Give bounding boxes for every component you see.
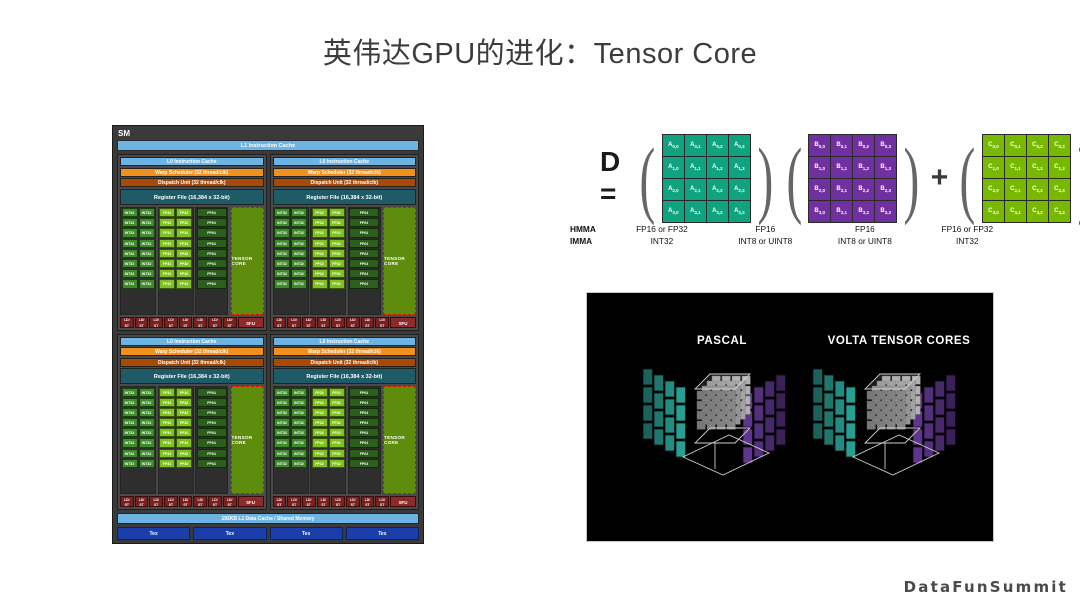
fp32-core-row: FP32FP32 [159, 208, 192, 217]
fp32-core-row: FP32FP32 [159, 279, 192, 288]
int32-core-cell: INT32 [291, 428, 307, 437]
fp64-core-cell: FP64 [197, 449, 227, 458]
fp64-core-cell: FP64 [197, 239, 227, 248]
ldst-unit-cell: LD/ST [135, 496, 149, 507]
fp64-core-cell: FP64 [349, 218, 379, 227]
int32-core-cell: INT32 [122, 438, 138, 447]
int32-core-cell: INT32 [274, 408, 290, 417]
fp32-core-row: FP32FP32 [159, 438, 192, 447]
int32-core-row: INT32INT32 [122, 269, 155, 278]
sm-quadrant-grid: L0 Instruction CacheWarp Scheduler (32 t… [117, 154, 419, 510]
int32-core-cell: INT32 [274, 269, 290, 278]
fp32-core-cell: FP32 [159, 408, 175, 417]
int32-core-cell: INT32 [139, 408, 155, 417]
matrix-cell-c-2-3: C2,3 [1049, 179, 1070, 200]
int32-core-cell: INT32 [122, 388, 138, 397]
int32-core-cell: INT32 [122, 208, 138, 217]
fp32-core-cell: FP32 [312, 259, 328, 268]
int32-core-cell: INT32 [274, 398, 290, 407]
int32-core-cell: INT32 [122, 459, 138, 468]
core-array: INT32INT32INT32INT32INT32INT32INT32INT32… [120, 386, 264, 494]
matrix-cell-b-1-1: B1,1 [831, 157, 852, 178]
int32-core-cell: INT32 [139, 208, 155, 217]
matrix-cell-c-0-2: C0,2 [1027, 135, 1048, 156]
matrix-cell-c-1-0: C1,0 [983, 157, 1004, 178]
int32-core-cell: INT32 [291, 398, 307, 407]
format-row-hmma: HMMA FP16 or FP32 FP16 FP16 FP16 or FP32 [570, 224, 1020, 236]
format-hmma-b: FP16 [815, 224, 915, 234]
l1-instruction-cache-bar: L1 Instruction Cache [117, 140, 419, 151]
matrix-cell-b-2-0: B2,0 [809, 179, 830, 200]
int32-core-row: INT32INT32 [274, 459, 307, 468]
ldst-unit-cell: LD/ST [317, 496, 331, 507]
fp32-core-cell: FP32 [329, 218, 345, 227]
int32-core-row: INT32INT32 [274, 228, 307, 237]
pascal-volta-comparison-image: PASCAL VOLTA TENSOR CORES [586, 292, 994, 542]
fp32-core-row: FP32FP32 [312, 239, 345, 248]
tensor-core-label: TENSOR CORE [384, 435, 415, 445]
int32-core-row: INT32INT32 [122, 428, 155, 437]
fp64-core-group: FP64FP64FP64FP64FP64FP64FP64FP64 [195, 386, 228, 494]
matrix-cell-b-0-2: B0,2 [853, 135, 874, 156]
fp32-core-cell: FP32 [329, 398, 345, 407]
fp32-core-row: FP32FP32 [159, 449, 192, 458]
fp32-core-group: FP32FP32FP32FP32FP32FP32FP32FP32FP32FP32… [158, 207, 194, 315]
int32-core-row: INT32INT32 [122, 228, 155, 237]
matrix-cell-a-2-1: A2,1 [685, 179, 706, 200]
matrix-cell-a-3-0: A3,0 [663, 201, 684, 222]
sm-label: SM [116, 129, 420, 139]
fp64-core-cell: FP64 [349, 279, 379, 288]
format-row-imma: IMMA INT32 INT8 or UINT8 INT8 or UINT8 I… [570, 236, 1020, 248]
fp32-core-row: FP32FP32 [312, 269, 345, 278]
fp32-core-row: FP32FP32 [312, 459, 345, 468]
tensor-core-block: TENSOR CORE [383, 207, 416, 315]
matrix-cell-a-3-2: A3,2 [707, 201, 728, 222]
matrix-cell-c-0-0: C0,0 [983, 135, 1004, 156]
matrix-a-group: ( A0,0A0,1A0,2A0,3A1,0A1,1A1,2A1,3A2,0A2… [633, 134, 779, 223]
matrix-cell-c-2-1: C2,1 [1005, 179, 1026, 200]
int32-core-cell: INT32 [139, 218, 155, 227]
int32-core-row: INT32INT32 [122, 218, 155, 227]
matrix-cell-b-0-3: B0,3 [875, 135, 896, 156]
fp64-core-cell: FP64 [349, 408, 379, 417]
int32-core-cell: INT32 [122, 218, 138, 227]
sm-processing-block: L0 Instruction CacheWarp Scheduler (32 t… [117, 154, 267, 331]
matrix-c-group: ( C0,0C0,1C0,2C0,3C1,0C1,1C1,2C1,3C2,0C2… [953, 134, 1080, 223]
ldst-unit-cell: LD/ST [120, 317, 134, 328]
tensor-core-label: TENSOR CORE [232, 256, 263, 266]
tensor-core-block: TENSOR CORE [383, 386, 416, 494]
fp32-core-cell: FP32 [176, 259, 192, 268]
fp32-core-cell: FP32 [176, 408, 192, 417]
l0-instruction-cache-bar: L0 Instruction Cache [120, 157, 264, 166]
int32-core-cell: INT32 [274, 418, 290, 427]
ldst-sfu-row: LD/STLD/STLD/STLD/STLD/STLD/STLD/STLD/ST… [273, 496, 417, 507]
tex-unit-cell: Tex [193, 527, 266, 540]
int32-core-cell: INT32 [139, 279, 155, 288]
int32-core-cell: INT32 [122, 418, 138, 427]
fp32-core-cell: FP32 [329, 259, 345, 268]
fp32-core-cell: FP32 [329, 269, 345, 278]
fp32-core-cell: FP32 [329, 418, 345, 427]
fp32-core-cell: FP32 [329, 388, 345, 397]
int32-core-cell: INT32 [291, 418, 307, 427]
int32-core-cell: INT32 [291, 279, 307, 288]
fp64-core-cell: FP64 [349, 228, 379, 237]
int32-core-row: INT32INT32 [274, 208, 307, 217]
fp64-core-cell: FP64 [349, 269, 379, 278]
format-tag-imma: IMMA [570, 236, 608, 246]
int32-core-cell: INT32 [122, 259, 138, 268]
ldst-unit-cell: LD/ST [179, 496, 193, 507]
fp32-core-cell: FP32 [312, 418, 328, 427]
int32-core-cell: INT32 [122, 249, 138, 258]
int32-core-row: INT32INT32 [274, 279, 307, 288]
matrix-cell-a-2-0: A2,0 [663, 179, 684, 200]
ldst-unit-cell: LD/ST [179, 317, 193, 328]
int32-core-cell: INT32 [139, 459, 155, 468]
fp64-core-cell: FP64 [197, 269, 227, 278]
fp32-core-row: FP32FP32 [159, 239, 192, 248]
fp32-core-cell: FP32 [159, 398, 175, 407]
fp32-core-cell: FP32 [312, 279, 328, 288]
fp32-core-row: FP32FP32 [312, 388, 345, 397]
matrix-cell-a-1-0: A1,0 [663, 157, 684, 178]
sm-memory-section: 192KB L1 Data Cache / Shared Memory TexT… [117, 513, 419, 540]
tensor-core-label: TENSOR CORE [232, 435, 263, 445]
matrix-cell-c-2-0: C2,0 [983, 179, 1004, 200]
fp64-core-cell: FP64 [197, 459, 227, 468]
fp32-core-cell: FP32 [312, 398, 328, 407]
fp32-core-row: FP32FP32 [159, 388, 192, 397]
int32-core-cell: INT32 [139, 428, 155, 437]
int32-core-cell: INT32 [122, 239, 138, 248]
format-imma-b: INT8 or UINT8 [815, 236, 915, 246]
int32-core-cell: INT32 [139, 449, 155, 458]
int32-core-cell: INT32 [139, 249, 155, 258]
matrix-cell-a-0-2: A0,2 [707, 135, 728, 156]
ldst-unit-cell: LD/ST [375, 317, 389, 328]
int32-core-cell: INT32 [291, 218, 307, 227]
dispatch-unit-bar: Dispatch Unit (32 thread/clk) [120, 358, 264, 367]
fp32-core-cell: FP32 [329, 428, 345, 437]
int32-core-row: INT32INT32 [274, 259, 307, 268]
ldst-unit-cell: LD/ST [331, 317, 345, 328]
sfu-unit-cell: SFU [390, 496, 416, 507]
fp32-core-row: FP32FP32 [312, 259, 345, 268]
core-array: INT32INT32INT32INT32INT32INT32INT32INT32… [273, 386, 417, 494]
int32-core-cell: INT32 [291, 449, 307, 458]
fp64-core-group: FP64FP64FP64FP64FP64FP64FP64FP64 [348, 207, 381, 315]
int32-core-cell: INT32 [274, 279, 290, 288]
int32-core-row: INT32INT32 [122, 398, 155, 407]
matrix-cell-a-2-3: A2,3 [729, 179, 750, 200]
matrix-cell-c-0-3: C0,3 [1049, 135, 1070, 156]
int32-core-cell: INT32 [139, 228, 155, 237]
int32-core-row: INT32INT32 [122, 279, 155, 288]
fp32-core-row: FP32FP32 [312, 438, 345, 447]
l1-data-cache-bar: 192KB L1 Data Cache / Shared Memory [117, 513, 419, 524]
fp32-core-cell: FP32 [176, 208, 192, 217]
fp32-core-row: FP32FP32 [312, 418, 345, 427]
fp32-core-cell: FP32 [159, 218, 175, 227]
fp32-core-row: FP32FP32 [312, 218, 345, 227]
matrix-cell-b-0-1: B0,1 [831, 135, 852, 156]
fp32-core-cell: FP32 [159, 449, 175, 458]
matrix-cell-b-0-0: B0,0 [809, 135, 830, 156]
int32-core-cell: INT32 [274, 259, 290, 268]
int32-core-row: INT32INT32 [274, 408, 307, 417]
int32-core-cell: INT32 [291, 459, 307, 468]
fp64-core-cell: FP64 [197, 408, 227, 417]
ldst-unit-cell: LD/ST [149, 496, 163, 507]
fp32-core-cell: FP32 [329, 449, 345, 458]
ldst-unit-cell: LD/ST [164, 317, 178, 328]
int32-core-row: INT32INT32 [274, 249, 307, 258]
fp32-core-row: FP32FP32 [312, 228, 345, 237]
matrix-cell-c-0-1: C0,1 [1005, 135, 1026, 156]
fp32-core-cell: FP32 [176, 418, 192, 427]
int32-core-cell: INT32 [274, 388, 290, 397]
fp32-core-cell: FP32 [159, 438, 175, 447]
tex-unit-row: TexTexTexTex [117, 527, 419, 540]
fp32-core-row: FP32FP32 [159, 228, 192, 237]
fp32-core-cell: FP32 [312, 208, 328, 217]
ldst-unit-cell: LD/ST [361, 317, 375, 328]
dispatch-unit-bar: Dispatch Unit (32 thread/clk) [120, 178, 264, 187]
register-file-bar: Register File (16,384 x 32-bit) [120, 368, 264, 384]
fp32-core-cell: FP32 [312, 249, 328, 258]
matrix-cell-a-1-1: A1,1 [685, 157, 706, 178]
int32-core-cell: INT32 [122, 449, 138, 458]
tensor-core-block: TENSOR CORE [231, 207, 264, 315]
fp32-core-cell: FP32 [329, 279, 345, 288]
dispatch-unit-bar: Dispatch Unit (32 thread/clk) [273, 178, 417, 187]
fp64-core-cell: FP64 [349, 208, 379, 217]
ldst-sfu-row: LD/STLD/STLD/STLD/STLD/STLD/STLD/STLD/ST… [120, 496, 264, 507]
volta-cube-figure [805, 351, 985, 481]
int32-core-cell: INT32 [122, 398, 138, 407]
register-file-bar: Register File (16,384 x 32-bit) [273, 189, 417, 205]
matrix-cell-b-1-0: B1,0 [809, 157, 830, 178]
int32-core-row: INT32INT32 [274, 418, 307, 427]
int32-core-group: INT32INT32INT32INT32INT32INT32INT32INT32… [273, 207, 309, 315]
l0-instruction-cache-bar: L0 Instruction Cache [120, 337, 264, 346]
fp32-core-group: FP32FP32FP32FP32FP32FP32FP32FP32FP32FP32… [310, 207, 346, 315]
int32-core-cell: INT32 [139, 418, 155, 427]
int32-core-row: INT32INT32 [274, 398, 307, 407]
fp32-core-cell: FP32 [159, 388, 175, 397]
ldst-unit-cell: LD/ST [361, 496, 375, 507]
matrix-cell-c-1-1: C1,1 [1005, 157, 1026, 178]
fp32-core-cell: FP32 [312, 428, 328, 437]
int32-core-row: INT32INT32 [122, 249, 155, 258]
page-title: 英伟达GPU的进化：Tensor Core [0, 30, 1080, 72]
pascal-title: PASCAL [632, 335, 812, 347]
tex-unit-cell: Tex [346, 527, 419, 540]
int32-core-cell: INT32 [122, 228, 138, 237]
matrix-cell-c-2-2: C2,2 [1027, 179, 1048, 200]
fp32-core-cell: FP32 [312, 408, 328, 417]
ldst-unit-cell: LD/ST [375, 496, 389, 507]
l0-instruction-cache-bar: L0 Instruction Cache [273, 157, 417, 166]
ldst-unit-cell: LD/ST [302, 317, 316, 328]
fp32-core-cell: FP32 [159, 428, 175, 437]
fp64-core-group: FP64FP64FP64FP64FP64FP64FP64FP64 [348, 386, 381, 494]
int32-core-row: INT32INT32 [122, 438, 155, 447]
int32-core-row: INT32INT32 [122, 208, 155, 217]
equation-result-label: D = [600, 146, 621, 210]
fp32-core-cell: FP32 [176, 279, 192, 288]
fp32-core-cell: FP32 [159, 208, 175, 217]
fp64-core-cell: FP64 [197, 249, 227, 258]
int32-core-row: INT32INT32 [122, 459, 155, 468]
fp32-core-row: FP32FP32 [159, 418, 192, 427]
int32-core-row: INT32INT32 [274, 388, 307, 397]
format-tag-hmma: HMMA [570, 224, 608, 234]
tex-unit-cell: Tex [117, 527, 190, 540]
matrix-c: C0,0C0,1C0,2C0,3C1,0C1,1C1,2C1,3C2,0C2,1… [982, 134, 1071, 223]
matrix-cell-b-3-1: B3,1 [831, 201, 852, 222]
int32-core-row: INT32INT32 [122, 259, 155, 268]
int32-core-cell: INT32 [122, 269, 138, 278]
fp32-core-cell: FP32 [159, 249, 175, 258]
sm-processing-block: L0 Instruction CacheWarp Scheduler (32 t… [270, 154, 420, 331]
int32-core-cell: INT32 [122, 408, 138, 417]
fp32-core-cell: FP32 [329, 239, 345, 248]
matrix-cell-b-3-2: B3,2 [853, 201, 874, 222]
fp64-core-cell: FP64 [349, 398, 379, 407]
tensor-core-label: TENSOR CORE [384, 256, 415, 266]
int32-core-cell: INT32 [139, 398, 155, 407]
fp32-core-row: FP32FP32 [159, 398, 192, 407]
matrix-cell-b-2-2: B2,2 [853, 179, 874, 200]
matrix-a: A0,0A0,1A0,2A0,3A1,0A1,1A1,2A1,3A2,0A2,1… [662, 134, 751, 223]
fp32-core-cell: FP32 [312, 459, 328, 468]
int32-core-row: INT32INT32 [122, 449, 155, 458]
format-imma-a: INT8 or UINT8 [716, 236, 816, 246]
sfu-unit-cell: SFU [238, 496, 264, 507]
pascal-cube-figure [635, 351, 815, 481]
fp32-core-cell: FP32 [329, 249, 345, 258]
int32-core-cell: INT32 [139, 259, 155, 268]
int32-core-cell: INT32 [274, 459, 290, 468]
ldst-unit-cell: LD/ST [135, 317, 149, 328]
matrix-cell-b-1-3: B1,3 [875, 157, 896, 178]
fp32-core-cell: FP32 [159, 269, 175, 278]
fp32-core-row: FP32FP32 [312, 449, 345, 458]
matrix-cell-c-3-1: C3,1 [1005, 201, 1026, 222]
fp32-core-cell: FP32 [312, 388, 328, 397]
int32-core-cell: INT32 [274, 249, 290, 258]
matrix-b-group: ( B0,0B0,1B0,2B0,3B1,0B1,1B1,2B1,3B2,0B2… [780, 134, 926, 223]
matrix-cell-c-3-2: C3,2 [1027, 201, 1048, 222]
tensor-core-block: TENSOR CORE [231, 386, 264, 494]
fp32-core-cell: FP32 [159, 459, 175, 468]
register-file-bar: Register File (16,384 x 32-bit) [273, 368, 417, 384]
ldst-unit-cell: LD/ST [208, 317, 222, 328]
matrix-cell-a-3-1: A3,1 [685, 201, 706, 222]
volta-title: VOLTA TENSOR CORES [799, 335, 994, 347]
int32-core-cell: INT32 [291, 249, 307, 258]
fp32-core-cell: FP32 [176, 449, 192, 458]
format-imma-d: INT32 [608, 236, 715, 246]
int32-core-cell: INT32 [291, 259, 307, 268]
fp32-core-cell: FP32 [159, 418, 175, 427]
fp32-core-row: FP32FP32 [159, 428, 192, 437]
fp32-core-row: FP32FP32 [312, 249, 345, 258]
fp64-core-cell: FP64 [349, 418, 379, 427]
int32-core-cell: INT32 [274, 438, 290, 447]
int32-core-group: INT32INT32INT32INT32INT32INT32INT32INT32… [273, 386, 309, 494]
core-array: INT32INT32INT32INT32INT32INT32INT32INT32… [120, 207, 264, 315]
int32-core-cell: INT32 [139, 239, 155, 248]
matrix-cell-c-3-3: C3,3 [1049, 201, 1070, 222]
ldst-unit-cell: LD/ST [273, 496, 287, 507]
ldst-unit-cell: LD/ST [120, 496, 134, 507]
matrix-cell-a-1-2: A1,2 [707, 157, 728, 178]
ldst-unit-cell: LD/ST [331, 496, 345, 507]
ldst-unit-cell: LD/ST [193, 317, 207, 328]
matrix-cell-c-1-3: C1,3 [1049, 157, 1070, 178]
fp64-core-cell: FP64 [349, 459, 379, 468]
int32-core-cell: INT32 [291, 208, 307, 217]
plus-icon: + [931, 161, 949, 195]
format-imma-c: INT32 [915, 236, 1020, 246]
int32-core-cell: INT32 [274, 218, 290, 227]
fp32-core-cell: FP32 [329, 438, 345, 447]
fp64-core-cell: FP64 [349, 388, 379, 397]
ldst-sfu-row: LD/STLD/STLD/STLD/STLD/STLD/STLD/STLD/ST… [120, 317, 264, 328]
matrix-cell-b-3-0: B3,0 [809, 201, 830, 222]
matrix-cell-a-0-0: A0,0 [663, 135, 684, 156]
core-array: INT32INT32INT32INT32INT32INT32INT32INT32… [273, 207, 417, 315]
int32-core-cell: INT32 [291, 269, 307, 278]
footer-logo: DataFunSummit [904, 578, 1068, 596]
ldst-unit-cell: LD/ST [223, 496, 237, 507]
fp32-core-cell: FP32 [159, 228, 175, 237]
fp32-core-cell: FP32 [176, 269, 192, 278]
fp32-core-cell: FP32 [312, 438, 328, 447]
int32-core-row: INT32INT32 [274, 428, 307, 437]
fp64-core-group: FP64FP64FP64FP64FP64FP64FP64FP64 [195, 207, 228, 315]
ldst-unit-cell: LD/ST [273, 317, 287, 328]
int32-core-cell: INT32 [274, 428, 290, 437]
fp64-core-cell: FP64 [349, 249, 379, 258]
fp32-core-group: FP32FP32FP32FP32FP32FP32FP32FP32FP32FP32… [310, 386, 346, 494]
int32-core-row: INT32INT32 [274, 269, 307, 278]
ldst-unit-cell: LD/ST [193, 496, 207, 507]
fp32-core-cell: FP32 [329, 408, 345, 417]
ldst-unit-cell: LD/ST [164, 496, 178, 507]
int32-core-cell: INT32 [274, 449, 290, 458]
fp64-core-cell: FP64 [197, 418, 227, 427]
fp32-core-cell: FP32 [159, 279, 175, 288]
sm-processing-block: L0 Instruction CacheWarp Scheduler (32 t… [270, 334, 420, 511]
fp32-core-cell: FP32 [176, 249, 192, 258]
int32-core-cell: INT32 [139, 388, 155, 397]
fp32-core-cell: FP32 [312, 218, 328, 227]
fp32-core-cell: FP32 [329, 228, 345, 237]
format-hmma-c: FP16 or FP32 [915, 224, 1020, 234]
int32-core-cell: INT32 [291, 408, 307, 417]
fp64-core-cell: FP64 [197, 228, 227, 237]
fp32-core-row: FP32FP32 [312, 279, 345, 288]
matrix-cell-b-2-1: B2,1 [831, 179, 852, 200]
fp32-core-cell: FP32 [176, 239, 192, 248]
matrix-cell-b-3-3: B3,3 [875, 201, 896, 222]
